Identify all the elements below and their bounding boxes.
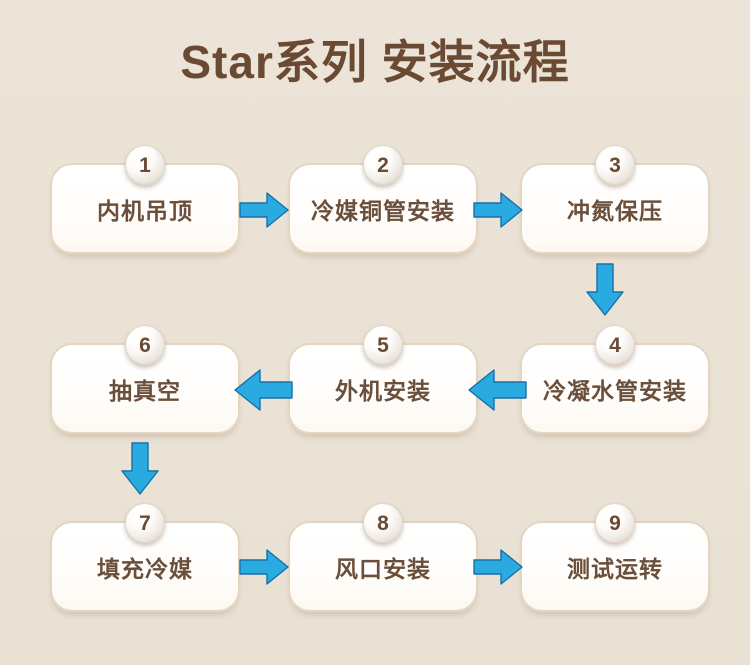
- step-number-4: 4: [596, 326, 634, 364]
- flow-node-label-7: 填充冷媒: [52, 550, 238, 584]
- page-title: Star系列 安装流程: [0, 26, 750, 92]
- flow-node-9[interactable]: 9 测试运转: [520, 521, 710, 612]
- step-badge-1: 1: [125, 145, 165, 185]
- flow-node-8[interactable]: 8 风口安装: [288, 521, 478, 612]
- step-number-5: 5: [364, 326, 402, 364]
- flow-node-5[interactable]: 5 外机安装: [288, 343, 478, 434]
- flow-node-label-2: 冷媒铜管安装: [290, 192, 476, 226]
- step-number-2: 2: [364, 146, 402, 184]
- step-badge-2: 2: [363, 145, 403, 185]
- flow-node-label-9: 测试运转: [522, 550, 708, 584]
- flow-node-2[interactable]: 2 冷媒铜管安装: [288, 163, 478, 254]
- step-badge-7: 7: [125, 503, 165, 543]
- connector-arrow-7-to-8: [238, 547, 290, 587]
- step-number-8: 8: [364, 504, 402, 542]
- connector-arrow-4-to-5: [466, 367, 528, 413]
- step-number-9: 9: [596, 504, 634, 542]
- flow-node-7[interactable]: 7 填充冷媒: [50, 521, 240, 612]
- connector-arrow-2-to-3: [472, 190, 524, 230]
- connector-arrow-8-to-9: [472, 547, 524, 587]
- flow-node-label-1: 内机吊顶: [52, 192, 238, 226]
- step-number-7: 7: [126, 504, 164, 542]
- flow-node-label-6: 抽真空: [52, 372, 238, 406]
- step-badge-6: 6: [125, 325, 165, 365]
- flow-node-label-3: 冲氮保压: [522, 192, 708, 226]
- flow-node-3[interactable]: 3 冲氮保压: [520, 163, 710, 254]
- step-badge-5: 5: [363, 325, 403, 365]
- flow-node-label-4: 冷凝水管安装: [522, 372, 708, 406]
- flow-node-1[interactable]: 1 内机吊顶: [50, 163, 240, 254]
- step-badge-8: 8: [363, 503, 403, 543]
- connector-arrow-3-to-4: [584, 262, 626, 318]
- flowchart-canvas: Star系列 安装流程 1 内机吊顶 2 冷媒铜管安装 3 冲氮保压: [0, 0, 750, 665]
- connector-arrow-6-to-7: [119, 441, 161, 497]
- step-number-3: 3: [596, 146, 634, 184]
- flow-node-label-5: 外机安装: [290, 372, 476, 406]
- step-badge-3: 3: [595, 145, 635, 185]
- flow-node-6[interactable]: 6 抽真空: [50, 343, 240, 434]
- flow-node-4[interactable]: 4 冷凝水管安装: [520, 343, 710, 434]
- step-badge-9: 9: [595, 503, 635, 543]
- step-number-1: 1: [126, 146, 164, 184]
- connector-arrow-1-to-2: [238, 190, 290, 230]
- step-badge-4: 4: [595, 325, 635, 365]
- connector-arrow-5-to-6: [232, 367, 294, 413]
- flow-node-label-8: 风口安装: [290, 550, 476, 584]
- step-number-6: 6: [126, 326, 164, 364]
